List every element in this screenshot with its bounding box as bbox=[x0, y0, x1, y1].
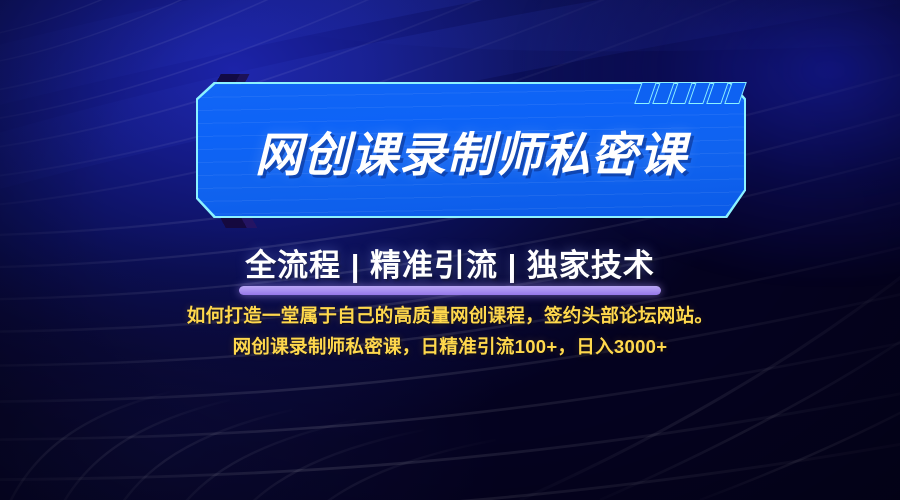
subtitle-text-wrapper: 全流程 | 精准引流 | 独家技术 bbox=[239, 240, 661, 295]
banner-stripe-group bbox=[638, 82, 750, 106]
subtitle-text: 全流程 | 精准引流 | 独家技术 bbox=[245, 248, 655, 283]
subtitle-underline-bar bbox=[239, 286, 661, 295]
title-banner: 网创课录制师私密课 bbox=[190, 74, 746, 226]
body-line-1: 如何打造一堂属于自己的高质量网创课程，签约头部论坛网站。 bbox=[0, 300, 900, 331]
poster-canvas: 网创课录制师私密课 全流程 | 精准引流 | 独家技术 如何打造一堂属于自己的高… bbox=[0, 0, 900, 500]
body-line-2: 网创课录制师私密课，日精准引流100+，日入3000+ bbox=[0, 331, 900, 362]
subtitle-container: 全流程 | 精准引流 | 独家技术 bbox=[0, 240, 900, 295]
body-copy: 如何打造一堂属于自己的高质量网创课程，签约头部论坛网站。 网创课录制师私密课，日… bbox=[0, 300, 900, 362]
